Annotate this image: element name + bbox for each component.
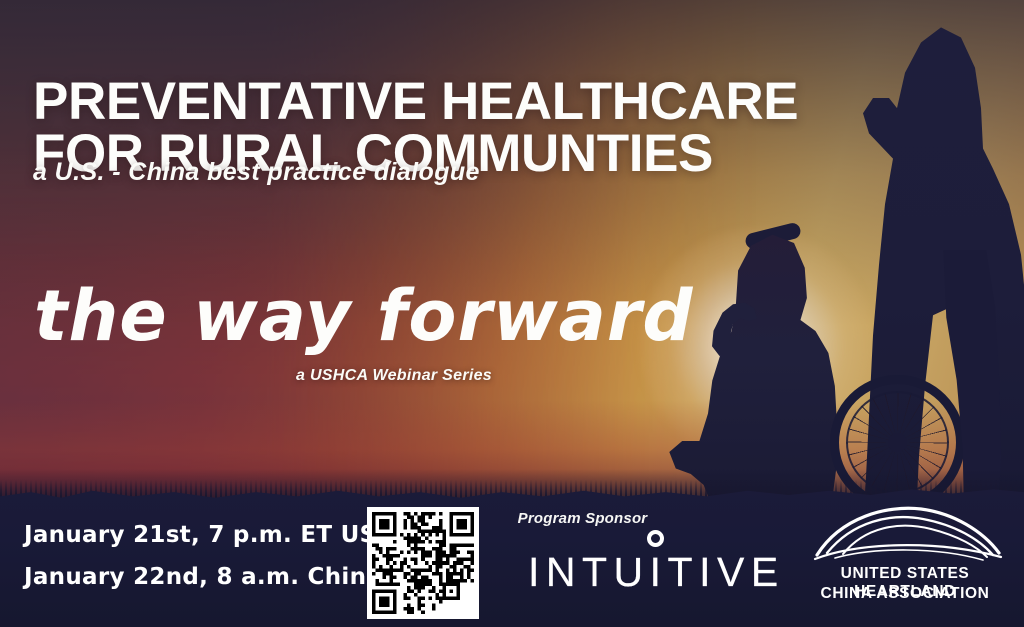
intuitive-wordmark: INTUITIVE xyxy=(528,552,778,593)
ushca-name-line-2: CHINA ASSOCIATION xyxy=(795,585,1015,603)
script-title-svg: the way forward xyxy=(30,278,500,363)
script-title-text: the way forward xyxy=(34,275,694,357)
date-us: January 21st, 7 p.m. ET US xyxy=(24,524,382,547)
ushca-arch-icon xyxy=(813,503,1003,561)
series-script-title: the way forward xyxy=(30,278,500,363)
wheelchair-wheel-hub xyxy=(888,433,907,452)
ushca-logo: UNITED STATES HEARTLAND CHINA ASSOCIATIO… xyxy=(795,503,1015,613)
sponsor-label: Program Sponsor xyxy=(510,510,655,527)
headline-line-1: PREVENTATIVE HEALTHCARE xyxy=(33,72,798,131)
subtitle: a U.S. - China best practice dialogue xyxy=(33,158,480,187)
event-schedule: January 21st, 7 p.m. ET US January 22nd,… xyxy=(24,524,382,608)
intuitive-logo: INTUITIVE xyxy=(528,548,778,600)
qr-code-canvas[interactable] xyxy=(372,512,474,614)
date-china: January 22nd, 8 a.m. China xyxy=(24,566,382,589)
webinar-series-label: a USHCA Webinar Series xyxy=(160,367,492,385)
intuitive-ring-icon xyxy=(647,530,664,547)
promotional-banner: PREVENTATIVE HEALTHCARE FOR RURAL COMMUN… xyxy=(0,0,1024,627)
qr-code[interactable] xyxy=(367,507,479,619)
